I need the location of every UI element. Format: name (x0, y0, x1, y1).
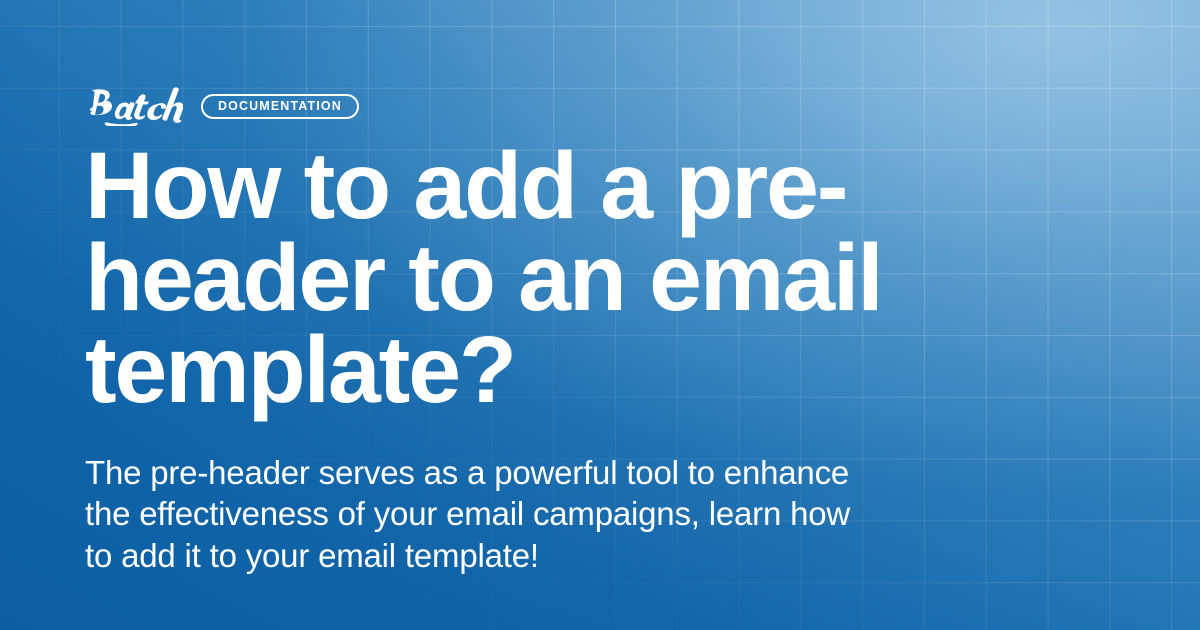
page-subtitle: The pre-header serves as a powerful tool… (85, 452, 875, 576)
batch-logo-icon[interactable] (85, 86, 183, 126)
documentation-badge[interactable]: DOCUMENTATION (201, 94, 359, 119)
banner-content: DOCUMENTATION How to add a pre- header t… (0, 0, 1200, 630)
documentation-badge-label: DOCUMENTATION (218, 100, 342, 113)
og-banner-card: DOCUMENTATION How to add a pre- header t… (0, 0, 1200, 630)
page-title: How to add a pre- header to an email tem… (85, 140, 985, 416)
page-title-line-1: How to add a pre- (85, 140, 985, 232)
page-title-line-3: template? (85, 324, 985, 416)
brand-row: DOCUMENTATION (85, 86, 359, 126)
page-title-line-2: header to an email (85, 232, 985, 324)
